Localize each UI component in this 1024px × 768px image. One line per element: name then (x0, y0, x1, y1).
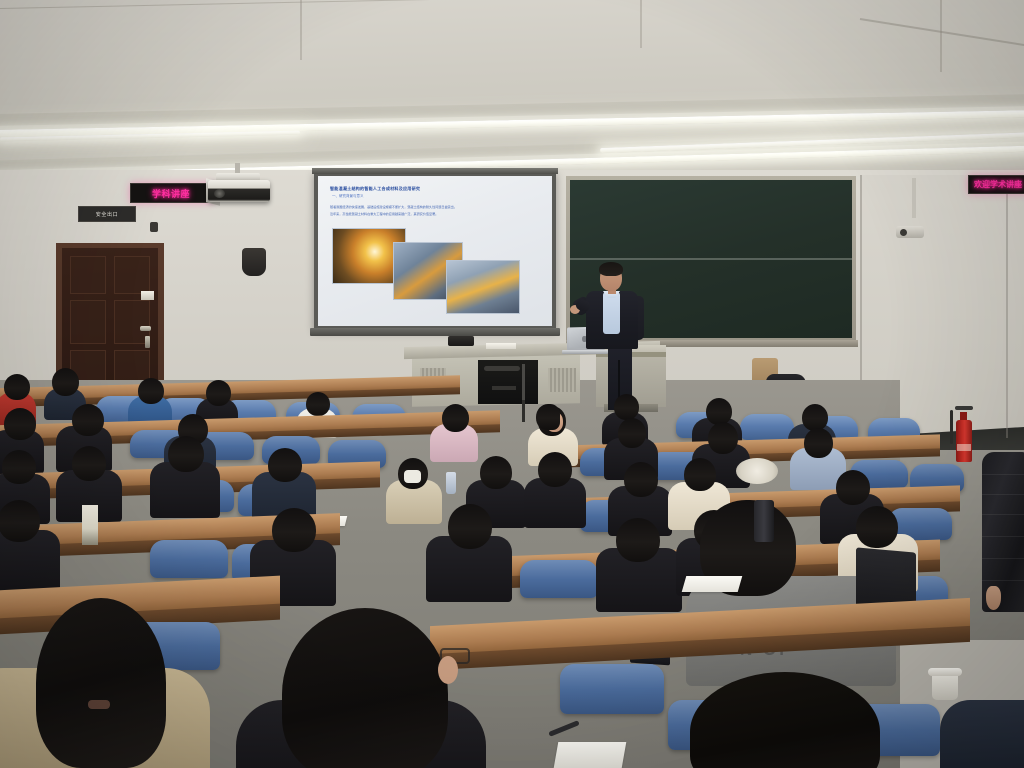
paper-cup (932, 672, 958, 700)
student-head (538, 452, 572, 487)
water-bottle (446, 472, 456, 494)
led-sign-right: 欢迎学术讲座 (968, 175, 1024, 194)
av-cabinet-open-compartment (478, 360, 538, 404)
student-head (684, 458, 716, 491)
fire-extinguisher-hose (950, 410, 953, 444)
led-sign-left-text: 学科讲座 (152, 187, 190, 200)
student-head (624, 462, 658, 497)
standing-person-hand (986, 586, 1001, 610)
student-head (480, 456, 512, 489)
projection-screen-bottom-bar (310, 328, 560, 336)
student-head (282, 608, 448, 768)
av-cabinet-vent (548, 368, 576, 392)
fire-extinguisher-handle-icon (955, 406, 973, 410)
slide-image-3 (446, 260, 520, 314)
student-head (856, 506, 898, 548)
blackboard-divider (570, 258, 852, 260)
presenter-hair (599, 262, 623, 276)
exit-sign-text: 安全出口 (96, 211, 118, 218)
student-head (802, 404, 828, 431)
student-head (138, 378, 164, 404)
student-head (4, 408, 36, 440)
hair-tie-icon (88, 700, 110, 709)
av-cable (484, 366, 520, 371)
slide-title: 智能混凝土结构的智能人工合成材料及应用研究 (330, 186, 420, 192)
wall-seam (1006, 178, 1008, 438)
ceiling-panel-line (940, 0, 942, 72)
led-sign-left: 学科讲座 (130, 183, 212, 203)
presenter-shirt (603, 292, 620, 334)
fire-extinguisher (956, 420, 972, 462)
student-head (442, 404, 469, 432)
paper-cup-lid (928, 668, 962, 676)
laptop-keyboard-base[interactable] (562, 350, 608, 354)
av-cable (522, 364, 525, 402)
student-head (4, 374, 30, 400)
door-panel (70, 256, 106, 294)
door-lock-icon[interactable] (145, 336, 150, 348)
exit-sign: 安全出口 (78, 206, 136, 222)
chair[interactable] (150, 540, 228, 578)
student-head (804, 428, 833, 458)
student-head (306, 392, 330, 416)
wall-speaker (242, 248, 266, 276)
student-hair (536, 404, 560, 430)
wall-sensor-icon (150, 222, 158, 232)
student-ponytail-hair (36, 598, 166, 768)
lecture-hall-photo: 学科讲座 欢迎学术讲座 安全出口 智能混凝土结构的智能人工合成材料及应用研究 一… (0, 0, 1024, 768)
notebook-paper (554, 742, 627, 768)
student-head (168, 436, 204, 472)
student-head (618, 418, 646, 448)
milk-carton (82, 505, 98, 545)
student-head (614, 394, 639, 420)
slide-body-line-1: 随着我国经济的快速发展，基础设施建设规模不断扩大，混凝土结构的耐久性问题日益突出… (330, 204, 457, 209)
notebook-paper (682, 576, 743, 592)
chair[interactable] (740, 414, 794, 440)
chair[interactable] (560, 664, 664, 714)
student-body (940, 700, 1024, 768)
student-head (52, 368, 79, 396)
projection-screen: 智能混凝土结构的智能人工合成材料及应用研究 一、研究背景与意义 随着我国经济的快… (314, 172, 556, 330)
student-ear (438, 656, 458, 684)
door-panel (114, 256, 150, 294)
student-head (448, 504, 492, 549)
projection-screen-surface: 智能混凝土结构的智能人工合成材料及应用研究 一、研究背景与意义 随着我国经济的快… (318, 176, 552, 326)
fire-extinguisher-label (957, 444, 971, 451)
student-head (706, 398, 732, 425)
student-head (2, 450, 36, 484)
thermos-flask (754, 500, 774, 542)
student-head (72, 446, 106, 481)
slide-body-line-2: 近年来，高性能混凝土材料在重大工程中的应用越来越广泛，其研究价值显著。 (330, 211, 438, 216)
av-cable (492, 386, 516, 390)
student-head (268, 448, 302, 482)
door-handle-icon[interactable] (140, 326, 151, 331)
student-head (616, 518, 660, 562)
student-head (0, 500, 40, 542)
ceiling-panel-line (640, 0, 642, 48)
door-card-reader-icon[interactable] (141, 291, 154, 300)
chair[interactable] (520, 560, 598, 598)
floor-cable (522, 400, 525, 422)
fur-collar (736, 458, 778, 484)
wall-camera-bracket (912, 178, 916, 218)
slide-subtitle: 一、研究背景与意义 (332, 194, 364, 199)
ceiling-panel-line (300, 0, 302, 60)
student-head (836, 470, 870, 505)
student-head (708, 422, 738, 454)
student-head (272, 508, 316, 552)
face-mask-icon (404, 470, 421, 483)
wall-camera-lens-icon (900, 229, 907, 236)
podium-paper (486, 343, 516, 349)
podium-monitor[interactable] (448, 336, 474, 346)
door-panel (70, 300, 106, 344)
student-head (72, 404, 104, 436)
led-sign-right-text: 欢迎学术讲座 (974, 179, 1022, 190)
projection-screen-top-roller (312, 168, 558, 174)
student-head (206, 380, 231, 406)
projector-lens-icon (214, 189, 225, 198)
